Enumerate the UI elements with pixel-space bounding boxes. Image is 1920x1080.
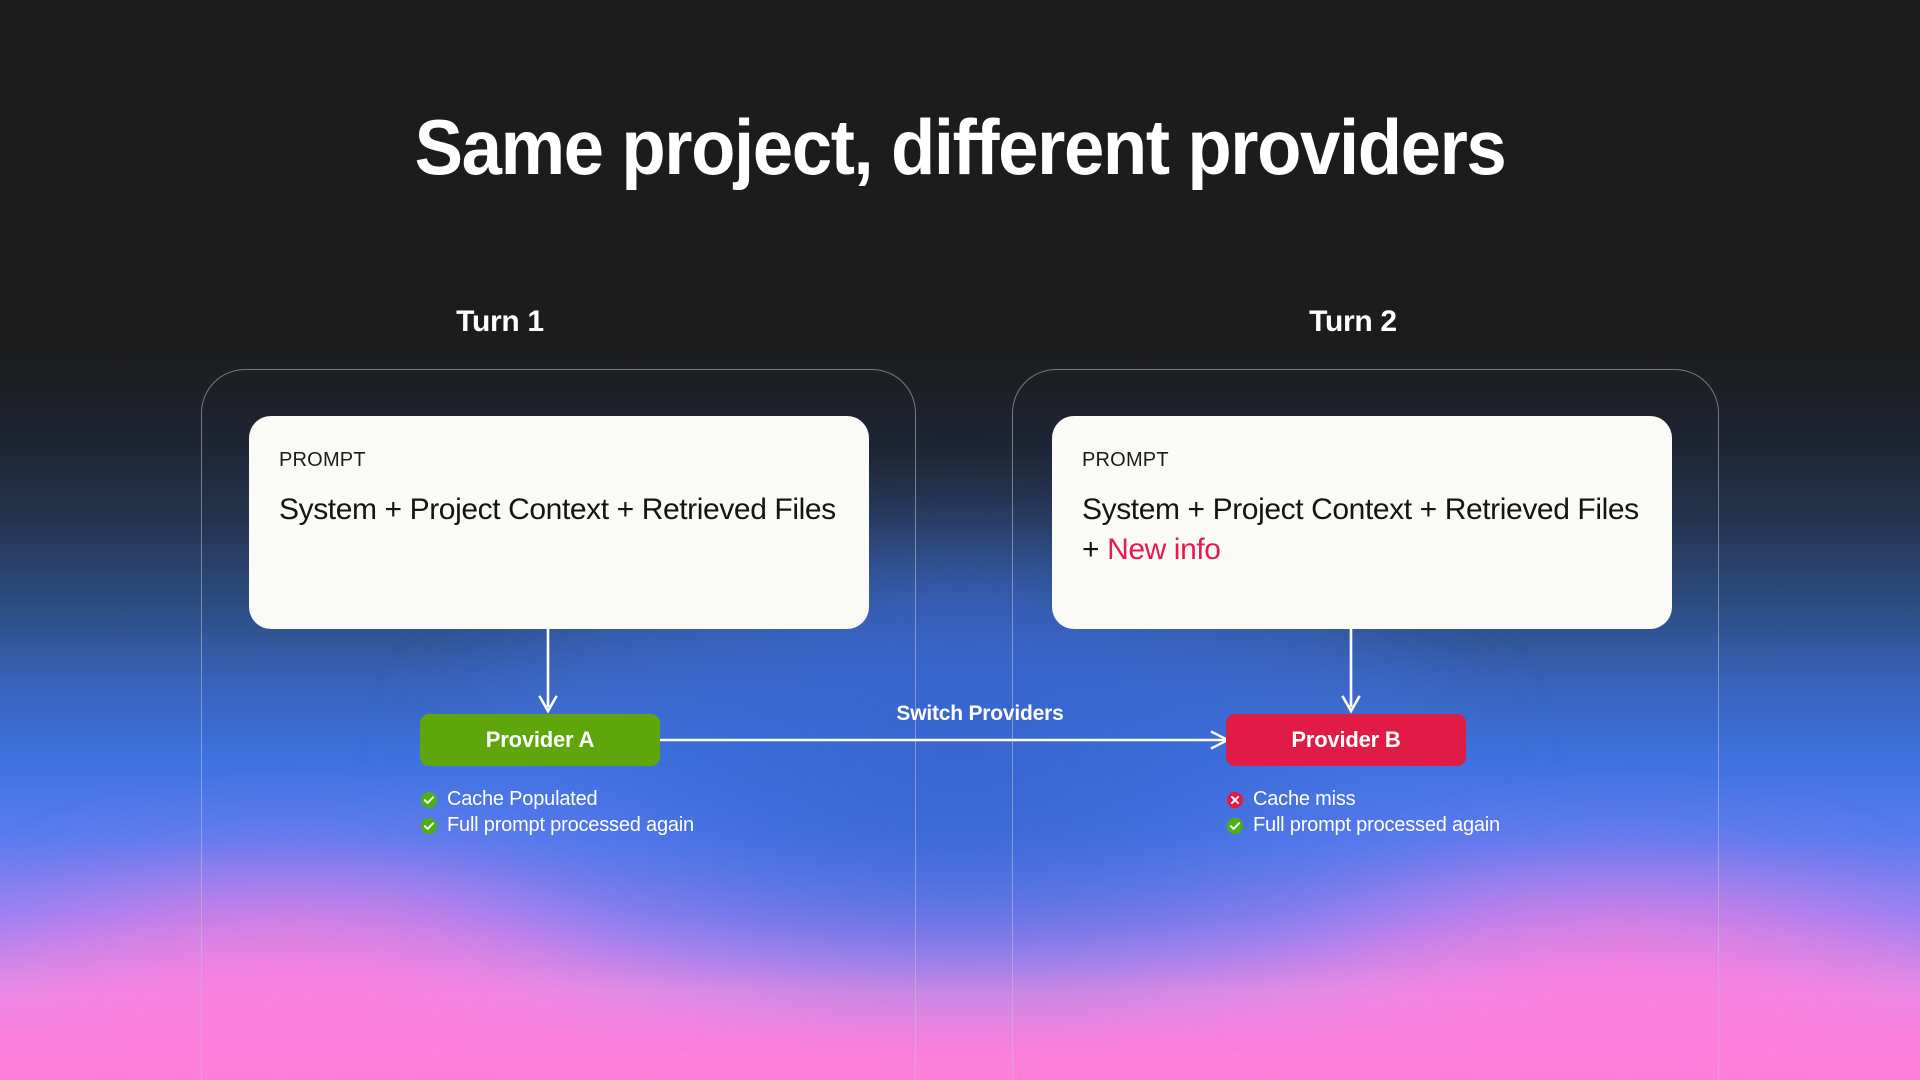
turn-2-label: Turn 2 xyxy=(1183,305,1523,339)
status-item: Full prompt processed again xyxy=(1226,813,1500,838)
prompt-card-turn-1: PROMPT System + Project Context + Retrie… xyxy=(249,416,869,629)
switch-providers-arrow xyxy=(660,728,1232,752)
background-top-fade xyxy=(0,0,1920,430)
status-list-turn-2: Cache miss Full prompt processed again xyxy=(1226,787,1500,839)
provider-a-button[interactable]: Provider A xyxy=(420,714,660,766)
status-label: Cache miss xyxy=(1253,788,1355,811)
status-label: Cache Populated xyxy=(447,788,597,811)
check-circle-icon xyxy=(1226,817,1244,835)
prompt-card-turn-2: PROMPT System + Project Context + Retrie… xyxy=(1052,416,1672,629)
status-item: Cache Populated xyxy=(420,787,694,812)
status-item: Cache miss xyxy=(1226,787,1500,812)
status-item: Full prompt processed again xyxy=(420,813,694,838)
prompt-body: System + Project Context + Retrieved Fil… xyxy=(1082,490,1642,569)
x-circle-icon xyxy=(1226,791,1244,809)
slide-canvas: Same project, different providers Turn 1… xyxy=(0,0,1920,1080)
prompt-highlight-new-info: New info xyxy=(1107,533,1221,566)
status-label: Full prompt processed again xyxy=(447,814,694,837)
prompt-kicker: PROMPT xyxy=(1082,450,1642,470)
check-circle-icon xyxy=(420,817,438,835)
check-circle-icon xyxy=(420,791,438,809)
status-label: Full prompt processed again xyxy=(1253,814,1500,837)
prompt-body: System + Project Context + Retrieved Fil… xyxy=(279,490,839,530)
turn-1-label: Turn 1 xyxy=(330,305,670,339)
page-title: Same project, different providers xyxy=(67,108,1853,186)
provider-b-button[interactable]: Provider B xyxy=(1226,714,1466,766)
status-list-turn-1: Cache Populated Full prompt processed ag… xyxy=(420,787,694,839)
switch-providers-label: Switch Providers xyxy=(790,702,1170,726)
prompt-kicker: PROMPT xyxy=(279,450,839,470)
prompt-body-main: System + Project Context + Retrieved Fil… xyxy=(279,493,836,526)
